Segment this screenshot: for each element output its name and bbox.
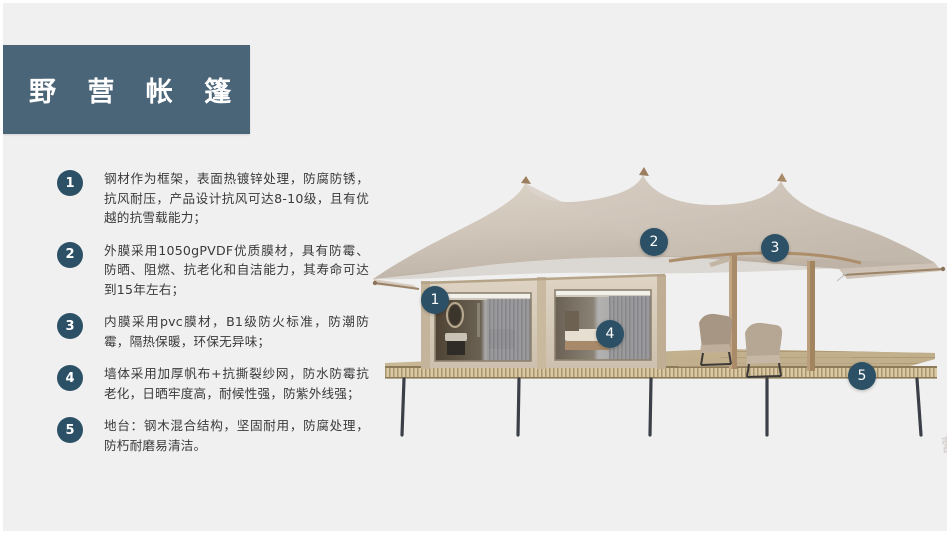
callout-badge-2[interactable]: 2 xyxy=(640,228,668,256)
feature-number-badge: 5 xyxy=(57,417,83,443)
left-wing-strut xyxy=(373,279,419,289)
list-item: 4 墙体采用加厚帆布+抗撕裂纱网，防水防霉抗老化，日晒牢度高，耐候性强，防紫外线… xyxy=(57,364,369,403)
feature-description: 钢材作为框架，表面热镀锌处理，防腐防锈，抗风耐压，产品设计抗风可达8-10级，且… xyxy=(104,169,369,228)
tent-illustration: 营地帐篷 xyxy=(369,153,949,443)
feature-number-badge: 1 xyxy=(57,170,83,196)
steel-legs xyxy=(402,379,921,435)
list-item: 3 内膜采用pvc膜材，B1级防火标准，防潮防霉，隔热保暖，环保无异味； xyxy=(57,312,369,351)
feature-number-badge: 4 xyxy=(57,365,83,391)
feature-description: 内膜采用pvc膜材，B1级防火标准，防潮防霉，隔热保暖，环保无异味； xyxy=(104,312,369,351)
page-title: 野 营 帐 篷 xyxy=(3,70,242,109)
feature-description: 外膜采用1050gPVDF优质膜材，具有防霉、防晒、阻燃、抗老化和自洁能力，其寿… xyxy=(104,241,369,300)
list-item: 5 地台：钢木混合结构，坚固耐用，防腐处理，防朽耐磨易清洁。 xyxy=(57,416,369,455)
tent-render xyxy=(369,153,949,443)
callout-badge-5[interactable]: 5 xyxy=(848,362,876,390)
list-item: 2 外膜采用1050gPVDF优质膜材，具有防霉、防晒、阻燃、抗老化和自洁能力，… xyxy=(57,241,369,300)
title-banner: 野 营 帐 篷 xyxy=(3,45,250,134)
callout-badge-3[interactable]: 3 xyxy=(761,234,789,262)
callout-badge-4[interactable]: 4 xyxy=(596,320,624,348)
feature-description: 地台：钢木混合结构，坚固耐用，防腐处理，防朽耐磨易清洁。 xyxy=(104,416,369,455)
outer-membrane-canopy xyxy=(373,167,935,279)
feature-number-badge: 2 xyxy=(57,242,83,268)
window-bathroom xyxy=(435,293,531,361)
slide-canvas: 野 营 帐 篷 1 钢材作为框架，表面热镀锌处理，防腐防锈，抗风耐压，产品设计抗… xyxy=(0,0,950,534)
callout-badge-1[interactable]: 1 xyxy=(421,286,449,314)
feature-description: 墙体采用加厚帆布+抗撕裂纱网，防水防霉抗老化，日晒牢度高，耐候性强，防紫外线强； xyxy=(104,364,369,403)
feature-number-badge: 3 xyxy=(57,313,83,339)
feature-list: 1 钢材作为框架，表面热镀锌处理，防腐防锈，抗风耐压，产品设计抗风可达8-10级… xyxy=(57,169,369,468)
list-item: 1 钢材作为框架，表面热镀锌处理，防腐防锈，抗风耐压，产品设计抗风可达8-10级… xyxy=(57,169,369,228)
